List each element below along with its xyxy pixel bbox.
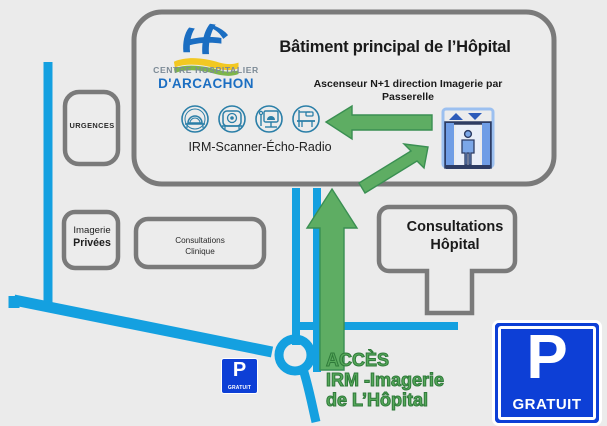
building-label-consultations-hopital: Consultations Hôpital [390, 218, 520, 254]
access-line1: ACCÈS [326, 350, 506, 370]
imagerie-line1: Imagerie [73, 225, 110, 236]
elevator-note: Ascenseur N+1 direction Imagerie par Pas… [288, 78, 528, 104]
cons-hop-line2: Hôpital [430, 237, 479, 253]
building-label-urgences: URGENCES [64, 122, 120, 131]
building-label-consultations-clinique: Consultations Clinique [152, 235, 248, 257]
cons-hop-line1: Consultations [407, 219, 504, 235]
parking-sign-large[interactable]: P GRATUIT [492, 320, 602, 426]
parking-symbol-small: P [222, 360, 257, 380]
imagerie-line2: Privées [73, 237, 111, 249]
cons-clin-line2: Clinique [185, 247, 215, 256]
parking-caption-small: GRATUIT [222, 385, 257, 391]
logo-line1: CENTRE HOSPITALIER [152, 66, 260, 76]
logo-line2: D'ARCACHON [152, 76, 260, 92]
access-line3: de L’Hôpital [326, 390, 506, 410]
cons-clin-line1: Consultations [175, 236, 225, 245]
access-line2: IRM -Imagerie [326, 370, 506, 390]
access-callout: ACCÈS IRM -Imagerie de L’Hôpital [326, 350, 506, 410]
parking-caption: GRATUIT [495, 396, 599, 413]
building-label-imagerie-privees: Imagerie Privées [63, 225, 121, 250]
parking-symbol: P [495, 327, 599, 389]
modalities-label: IRM-Scanner-Écho-Radio [170, 140, 350, 154]
parking-sign-small[interactable]: P GRATUIT [221, 358, 258, 394]
page-title: Bâtiment principal de l’Hôpital [240, 38, 550, 57]
